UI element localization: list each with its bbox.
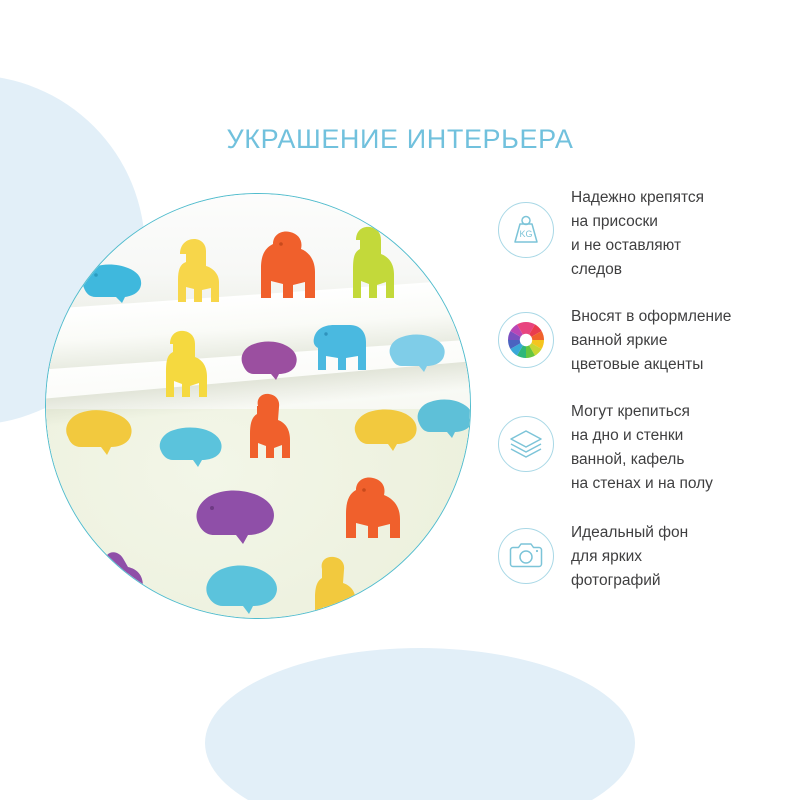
sticker-giraffe-yellow-2: [156, 329, 214, 403]
camera-icon: [498, 528, 554, 584]
sticker-giraffe-yellow-3: [306, 554, 366, 619]
sticker-hippo-blue-3: [414, 394, 471, 440]
color-wheel-icon: [498, 312, 554, 368]
weight-icon-label: KG: [519, 229, 532, 239]
sticker-hippo-purple-big: [192, 484, 278, 546]
sticker-lion-orange-2: [336, 474, 410, 544]
sticker-zebra-blue: [306, 314, 372, 378]
sticker-hippo-yellow: [62, 404, 136, 456]
sticker-hippo-lightblue: [416, 240, 471, 286]
feature-text: Вносят в оформление ванной яркие цветовы…: [571, 304, 731, 377]
feature-item-mounting: Могут крепиться на дно и стенки ванной, …: [498, 399, 794, 496]
sticker-giraffe-purple: [92, 546, 154, 616]
layers-stack-icon: [498, 416, 554, 472]
sticker-hippo-yellow-2: [351, 404, 421, 452]
feature-text: Могут крепиться на дно и стенки ванной, …: [571, 399, 713, 496]
feature-item-photo: Идеальный фон для ярких фотографий: [498, 520, 794, 593]
sticker-lion-orange: [251, 228, 323, 306]
feature-text: Надежно крепятся на присоски и не оставл…: [571, 185, 704, 282]
sticker-hippo-blue: [78, 258, 144, 304]
promo-infographic-page: УКРАШЕНИЕ ИНТЕРЬЕРА: [0, 0, 800, 800]
sticker-hippo-teal-2: [202, 560, 282, 616]
feature-item-suction: KG Надежно крепятся на присоски и не ост…: [498, 185, 794, 282]
sticker-hippo-lightblue-2: [386, 329, 448, 373]
product-photo-circle: [45, 193, 471, 619]
feature-text: Идеальный фон для ярких фотографий: [571, 520, 688, 593]
bathtub-scene: [45, 193, 471, 619]
sticker-hippo-purple: [238, 336, 300, 382]
weight-kg-icon: KG: [498, 202, 554, 258]
sticker-giraffe-orange: [242, 392, 298, 464]
sticker-hippo-teal: [156, 422, 226, 468]
feature-list: KG Надежно крепятся на присоски и не ост…: [498, 185, 794, 615]
sticker-giraffe-yellow: [164, 236, 226, 306]
sticker-giraffe-green: [342, 224, 402, 304]
decorative-blob-bottom: [205, 648, 635, 800]
feature-item-color: Вносят в оформление ванной яркие цветовы…: [498, 304, 794, 377]
page-title: УКРАШЕНИЕ ИНТЕРЬЕРА: [0, 124, 800, 155]
